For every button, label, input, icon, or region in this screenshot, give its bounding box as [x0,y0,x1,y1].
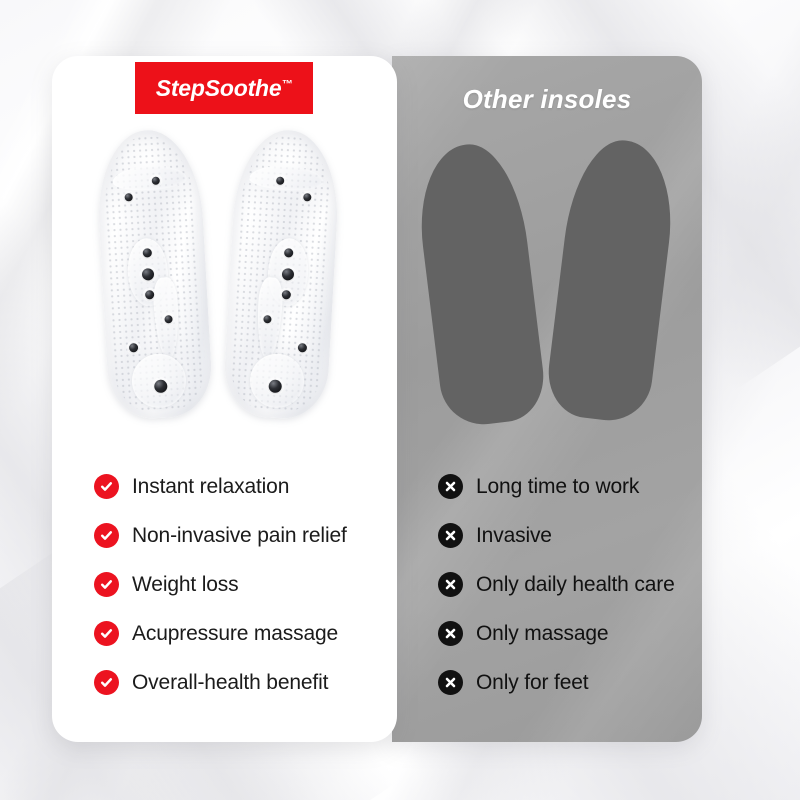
check-circle-icon [94,474,119,499]
feature-row: Only for feet [438,658,700,707]
feature-label: Only for feet [476,671,588,695]
brand-logo-banner: StepSoothe™ [135,62,313,114]
feature-row: Only massage [438,609,700,658]
feature-row: Weight loss [94,560,394,609]
feature-label: Non-invasive pain relief [132,524,347,548]
insole-left [94,127,214,420]
brand-name: StepSoothe™ [156,75,293,102]
feature-row: Acupressure massage [94,609,394,658]
feature-label: Only massage [476,622,608,646]
footprint-silhouette-left [411,139,548,430]
comparison-infographic: Other insoles Long time to work Invasive [0,0,800,800]
feature-label: Overall-health benefit [132,671,328,695]
stepsoothe-product-image [96,130,356,420]
brand-name-text: StepSoothe [156,75,282,101]
feature-label: Long time to work [476,475,639,499]
feature-row: Invasive [438,511,700,560]
footprint-silhouette-right [543,135,680,426]
feature-label: Acupressure massage [132,622,338,646]
feature-row: Only daily health care [438,560,700,609]
cross-circle-icon [438,572,463,597]
other-insoles-card: Other insoles Long time to work Invasive [392,56,702,742]
stepsoothe-feature-list: Instant relaxation Non-invasive pain rel… [94,462,394,707]
check-circle-icon [94,572,119,597]
insole-right [222,127,342,420]
check-circle-icon [94,621,119,646]
trademark-symbol: ™ [281,78,292,90]
cross-circle-icon [438,474,463,499]
cross-circle-icon [438,621,463,646]
other-insoles-image [420,134,676,434]
cross-circle-icon [438,670,463,695]
feature-row: Non-invasive pain relief [94,511,394,560]
feature-label: Only daily health care [476,573,675,597]
cross-circle-icon [438,523,463,548]
stepsoothe-card: StepSoothe™ [52,56,397,742]
feature-row: Instant relaxation [94,462,394,511]
other-insoles-title: Other insoles [392,84,702,115]
other-feature-list: Long time to work Invasive Only daily he… [438,462,700,707]
feature-row: Overall-health benefit [94,658,394,707]
feature-label: Instant relaxation [132,475,289,499]
feature-row: Long time to work [438,462,700,511]
foot-arch-notch [539,250,592,350]
check-circle-icon [94,670,119,695]
check-circle-icon [94,523,119,548]
feature-label: Weight loss [132,573,239,597]
feature-label: Invasive [476,524,552,548]
